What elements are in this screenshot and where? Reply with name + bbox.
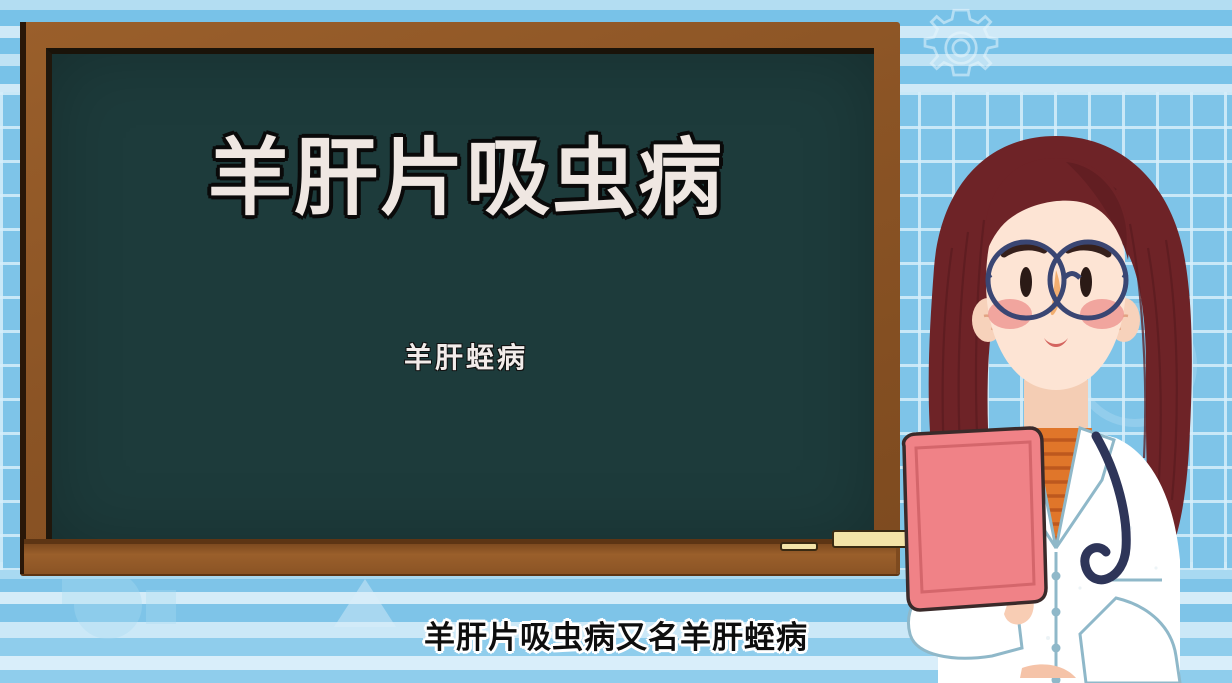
gear-icon <box>916 2 1006 94</box>
blackboard: 羊肝片吸虫病 羊肝蛭病 <box>20 22 900 574</box>
eye-left <box>1020 267 1032 297</box>
subtitle-caption: 羊肝片吸虫病又名羊肝蛭病 <box>0 612 1232 657</box>
chalk-icon <box>780 542 818 551</box>
doctor-illustration <box>880 128 1232 683</box>
blackboard-ledge <box>24 544 896 574</box>
page-title: 羊肝片吸虫病 <box>52 136 880 220</box>
page-subtitle: 羊肝蛭病 <box>52 344 880 372</box>
pink-clipboard <box>904 428 1046 610</box>
slide-canvas: 羊肝片吸虫病 羊肝蛭病 <box>0 0 1232 683</box>
eye-right <box>1080 267 1092 297</box>
blackboard-surface: 羊肝片吸虫病 羊肝蛭病 <box>46 48 874 544</box>
blackboard-frame-edge <box>20 22 26 574</box>
